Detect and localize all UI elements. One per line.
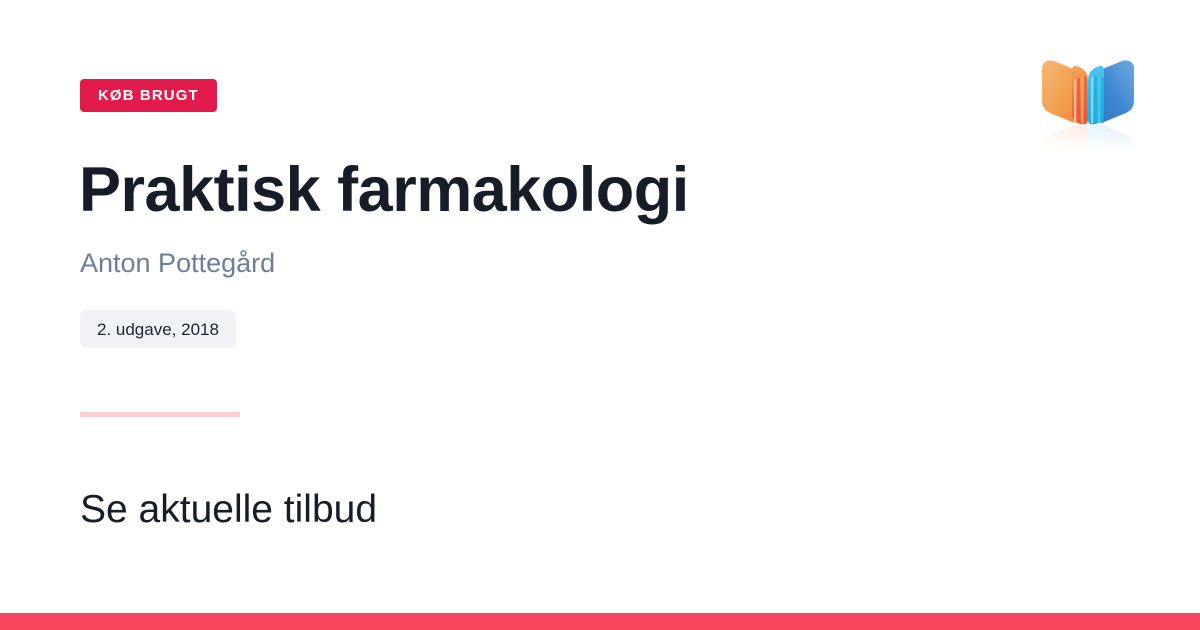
edition-chip: 2. udgave, 2018: [80, 310, 236, 348]
cta-link[interactable]: Se aktuelle tilbud: [80, 487, 377, 534]
book-author: Anton Pottegård: [80, 247, 275, 279]
footer-accent-bar: [0, 613, 1200, 630]
share-card: KØB BRUGT Praktisk farmakologi Anton Pot…: [0, 0, 1200, 630]
section-divider: [80, 412, 240, 417]
open-book-logo: [1032, 46, 1144, 152]
category-badge[interactable]: KØB BRUGT: [80, 79, 217, 112]
book-title: Praktisk farmakologi: [79, 155, 689, 226]
